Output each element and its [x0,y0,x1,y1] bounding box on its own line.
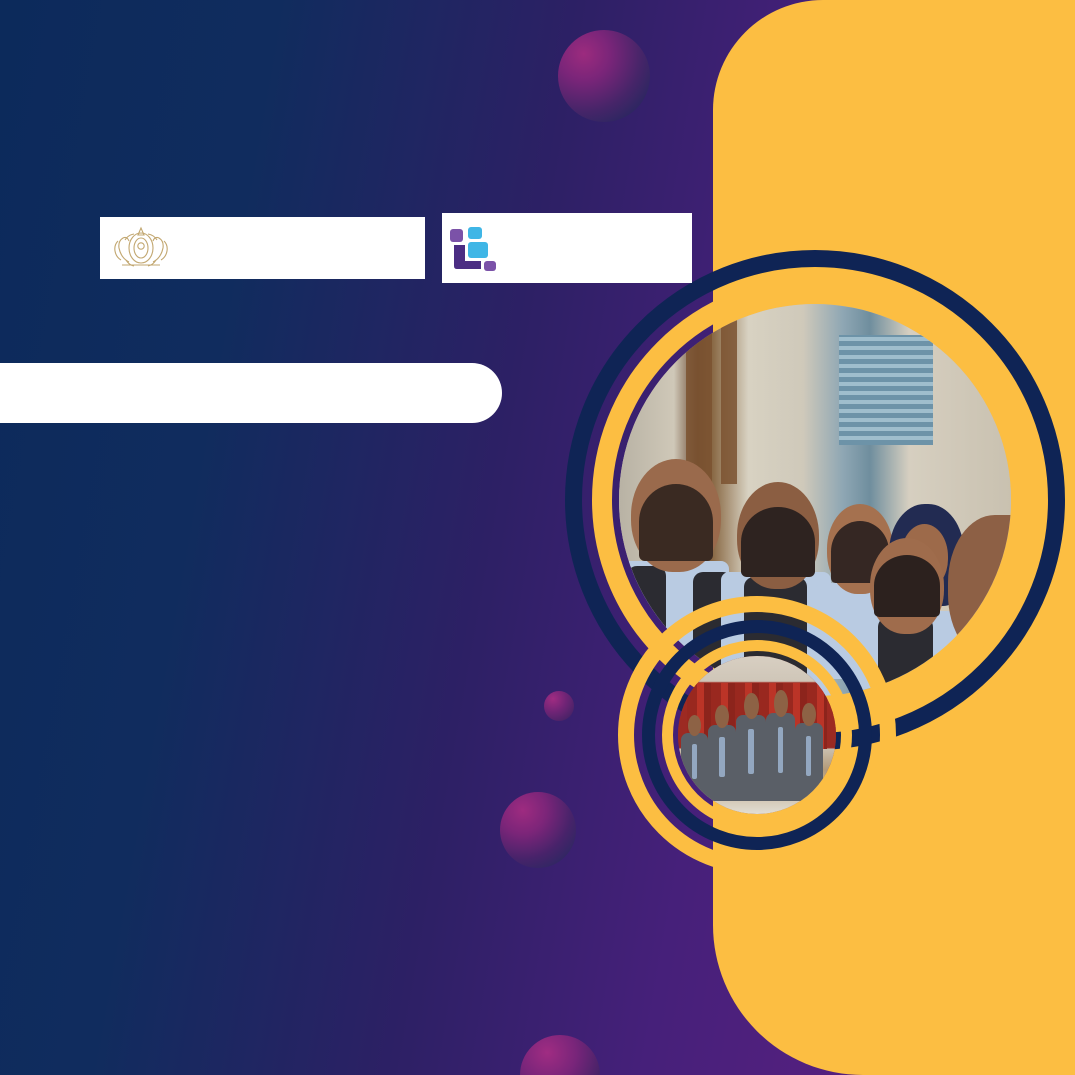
graduates-suits-photo [678,656,836,814]
decorative-sphere-icon [520,1035,600,1075]
kkem-blocks-mark-icon [448,223,500,273]
partner-logo-kkem [442,213,692,283]
event-type-banner [0,363,502,423]
graduates-suits-photo-frame [618,596,896,874]
partner-logo-digital-workforce [100,217,425,279]
decorative-sphere-icon [558,30,650,122]
kerala-government-emblem-icon [108,222,174,274]
poster-canvas [0,0,1075,1075]
